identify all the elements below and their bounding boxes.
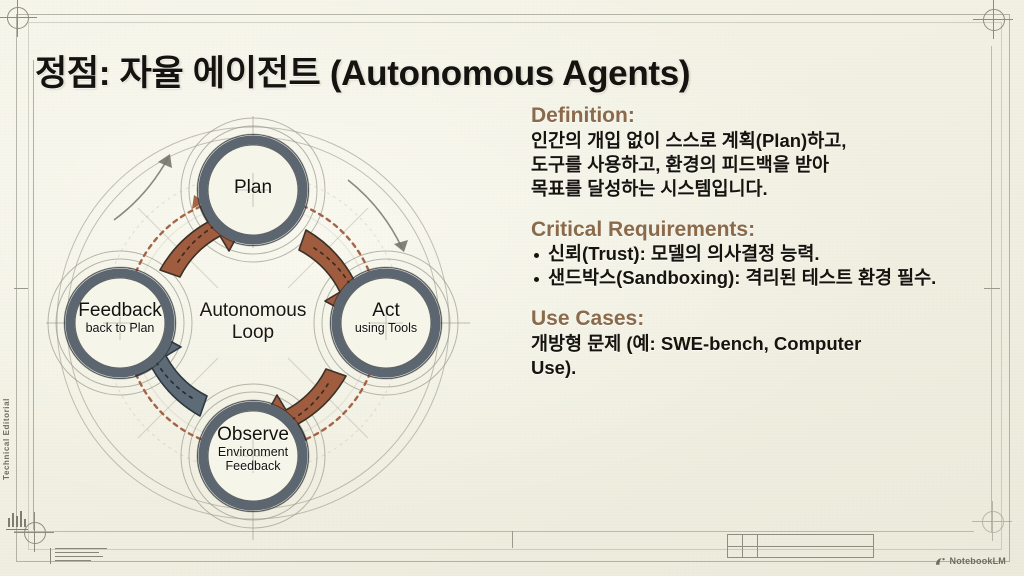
use-cases-line-1: 개방형 문제 (예: SWE-bench, Computer	[531, 332, 1001, 356]
definition-line-1: 인간의 개입 없이 스스로 계획(Plan)하고,	[531, 129, 1001, 153]
use-cases-line-2: Use).	[531, 356, 1001, 380]
center-label-line-2: Loop	[163, 322, 343, 344]
content-column: Definition: 인간의 개입 없이 스스로 계획(Plan)하고, 도구…	[531, 104, 1001, 397]
section-critical-requirements: Critical Requirements: 신뢰(Trust): 모델의 의사…	[531, 218, 1001, 291]
notebooklm-logo-icon	[935, 557, 946, 566]
notebooklm-watermark: NotebookLM	[935, 556, 1007, 566]
definition-line-3: 목표를 달성하는 시스템입니다.	[531, 177, 1001, 201]
definition-line-2: 도구를 사용하고, 환경의 피드백을 받아	[531, 153, 1001, 177]
section-use-cases-body: 개방형 문제 (예: SWE-bench, Computer Use).	[531, 332, 1001, 380]
center-label-line-1: Autonomous	[163, 300, 343, 322]
section-critical-requirements-heading: Critical Requirements:	[531, 218, 1001, 242]
section-definition-body: 인간의 개입 없이 스스로 계획(Plan)하고, 도구를 사용하고, 환경의 …	[531, 129, 1001, 201]
registration-crosshair-top-right	[992, 18, 993, 19]
registration-crosshair-bottom-right	[991, 520, 992, 521]
watermark-label: NotebookLM	[950, 556, 1007, 566]
section-use-cases-heading: Use Cases:	[531, 307, 1001, 331]
diagram-center-label: Autonomous Loop	[163, 300, 343, 344]
drawing-title-block	[727, 534, 874, 558]
autonomous-loop-diagram: Plan Act using Tools Observe Environment…	[18, 88, 488, 558]
section-definition-heading: Definition:	[531, 104, 1001, 128]
side-label-vertical: Technical Editorial	[2, 398, 11, 480]
section-definition: Definition: 인간의 개입 없이 스스로 계획(Plan)하고, 도구…	[531, 104, 1001, 201]
critical-requirements-list: 신뢰(Trust): 모델의 의사결정 능력. 샌드박스(Sandboxing)…	[531, 242, 1001, 290]
list-item: 샌드박스(Sandboxing): 격리된 테스트 환경 필수.	[531, 266, 1001, 290]
section-use-cases: Use Cases: 개방형 문제 (예: SWE-bench, Compute…	[531, 307, 1001, 380]
edge-tick-bottom-mid	[512, 531, 513, 548]
list-item: 신뢰(Trust): 모델의 의사결정 능력.	[531, 242, 1001, 266]
registration-crosshair-top-left	[16, 16, 17, 17]
